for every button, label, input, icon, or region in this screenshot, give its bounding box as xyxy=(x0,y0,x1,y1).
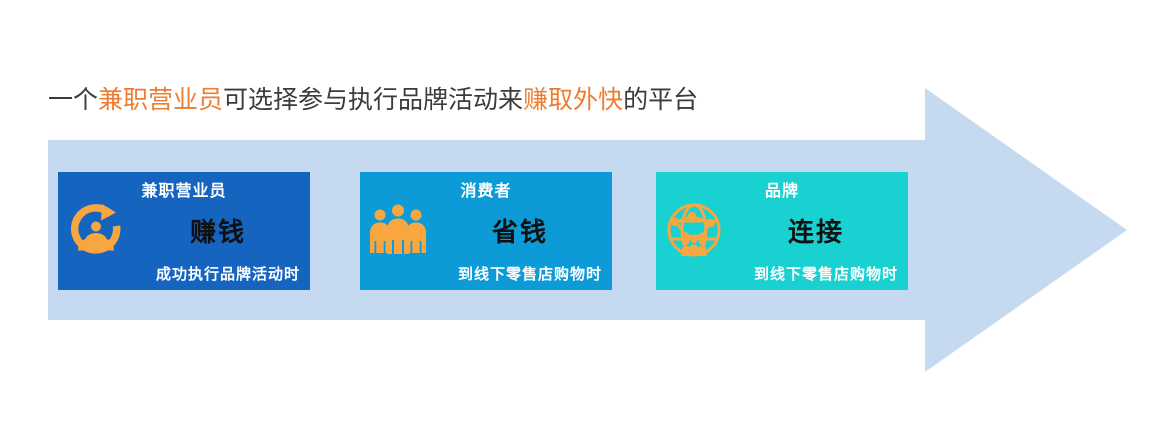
group-of-three-people-icon xyxy=(366,198,430,262)
headline-segment-4: 的平台 xyxy=(623,85,698,114)
card-footer-label: 到线下零售店购物时 xyxy=(754,263,898,284)
page-title: 一个兼职营业员可选择参与执行品牌活动来赚取外快的平台 xyxy=(48,85,698,115)
person-with-circular-arrow-icon xyxy=(64,198,128,262)
card-footer-label: 成功执行品牌活动时 xyxy=(156,263,300,284)
card-brand[interactable]: 品牌 xyxy=(656,172,908,290)
slide-canvas: 一个兼职营业员可选择参与执行品牌活动来赚取外快的平台 兼职营业员 赚钱 成功执行… xyxy=(0,0,1150,430)
card-footer-label: 到线下零售店购物时 xyxy=(458,263,602,284)
card-main-label: 省钱 xyxy=(434,212,606,249)
card-main-label: 连接 xyxy=(730,212,902,249)
card-consumer[interactable]: 消费者 省钱 到线下零售店购物时 xyxy=(360,172,612,290)
headline-segment-0: 一个 xyxy=(48,85,98,114)
headline-segment-3: 赚取外快 xyxy=(523,85,623,114)
headline-segment-1: 兼职营业员 xyxy=(98,85,223,114)
headline-segment-2: 可选择参与执行品牌活动来 xyxy=(223,85,523,114)
card-part-time-clerk[interactable]: 兼职营业员 赚钱 成功执行品牌活动时 xyxy=(58,172,310,290)
network-globe-with-people-icon xyxy=(662,198,726,262)
card-main-label: 赚钱 xyxy=(132,212,304,249)
